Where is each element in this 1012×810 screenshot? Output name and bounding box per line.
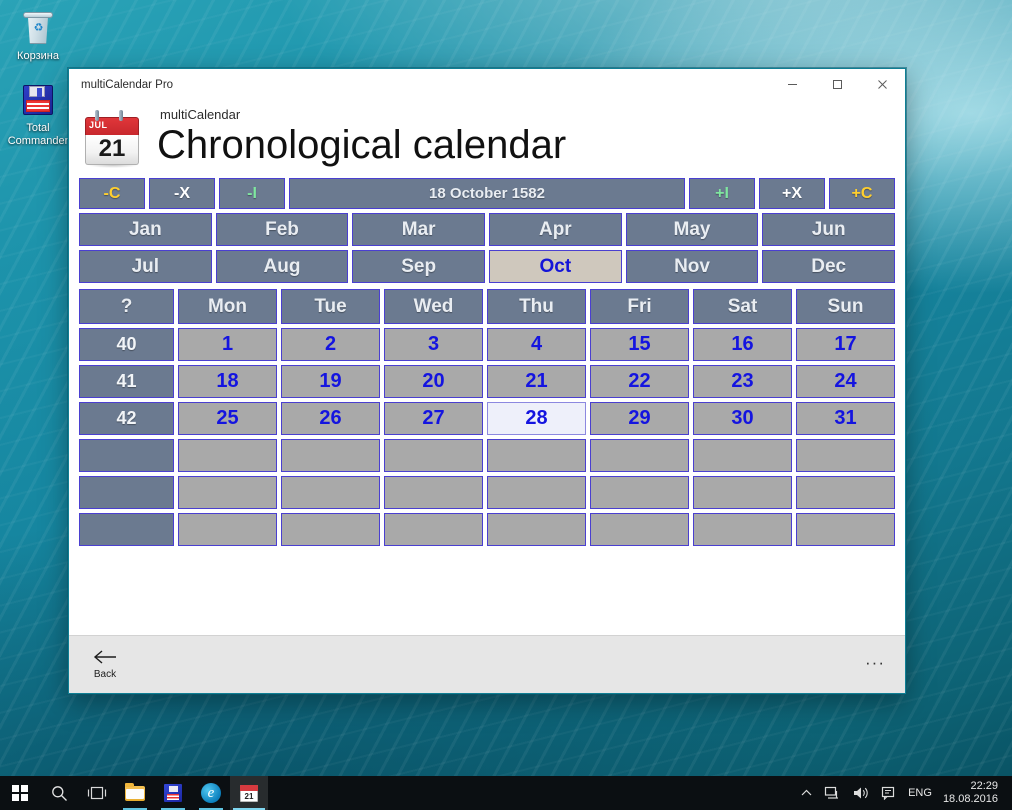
month-button-dec[interactable]: Dec: [762, 250, 895, 283]
month-button-oct[interactable]: Oct: [489, 250, 622, 283]
app-header: JUL 21 multiCalendar Chronological calen…: [69, 100, 905, 178]
floppy-disk-icon: [20, 82, 56, 118]
window-title: multiCalendar Pro: [69, 79, 770, 91]
day-cell[interactable]: 24: [796, 365, 895, 398]
taskbar-search-button[interactable]: [40, 776, 78, 810]
day-cell[interactable]: 19: [281, 365, 380, 398]
day-cell[interactable]: [384, 439, 483, 472]
day-cell[interactable]: 1: [178, 328, 277, 361]
weekday-header-sat: Sat: [693, 289, 792, 324]
total-commander-icon: [162, 782, 184, 804]
language-indicator[interactable]: ENG: [901, 787, 939, 799]
month-row-second-half: Jul Aug Sep Oct Nov Dec: [79, 250, 895, 283]
week-number: 40: [79, 328, 174, 361]
calendar-week-row: [79, 513, 895, 546]
day-cell[interactable]: [693, 513, 792, 546]
edge-icon: e: [200, 782, 222, 804]
weekday-header-fri: Fri: [590, 289, 689, 324]
desktop-icon-recycle-bin[interactable]: ♻ Корзина: [6, 10, 70, 63]
back-button[interactable]: Back: [83, 650, 127, 680]
nav-plus-decade-button[interactable]: +X: [759, 178, 825, 209]
calendar-body: -C -X -I 18 October 1582 +I +X +C Jan Fe…: [69, 178, 905, 635]
day-cell[interactable]: [590, 513, 689, 546]
nav-minus-year-button[interactable]: -I: [219, 178, 285, 209]
taskbar: e 21: [0, 776, 1012, 810]
search-icon: [51, 785, 68, 802]
day-cell[interactable]: [693, 476, 792, 509]
clock[interactable]: 22:29 18.08.2016: [939, 780, 1004, 806]
day-cell[interactable]: 17: [796, 328, 895, 361]
month-button-nov[interactable]: Nov: [626, 250, 759, 283]
close-button[interactable]: [860, 69, 905, 100]
calendar-week-row: 42 25 26 27 28 29 30 31: [79, 402, 895, 435]
window-controls: [770, 69, 905, 100]
file-explorer-icon: [124, 782, 146, 804]
day-cell[interactable]: 3: [384, 328, 483, 361]
day-cell[interactable]: [487, 439, 586, 472]
navigation-row: -C -X -I 18 October 1582 +I +X +C: [79, 178, 895, 209]
desktop-icon-label: Корзина: [6, 50, 70, 63]
day-cell[interactable]: [281, 476, 380, 509]
weekday-header-wed: Wed: [384, 289, 483, 324]
overflow-menu-button[interactable]: ···: [859, 653, 891, 677]
network-button[interactable]: [818, 776, 847, 810]
current-date-display: 18 October 1582: [289, 178, 685, 209]
back-button-label: Back: [94, 669, 116, 680]
day-cell[interactable]: [796, 439, 895, 472]
month-button-jul[interactable]: Jul: [79, 250, 212, 283]
weekday-header-tue: Tue: [281, 289, 380, 324]
week-number: [79, 513, 174, 546]
week-number: [79, 476, 174, 509]
desktop-icon-label: Total Commander: [6, 122, 70, 147]
month-button-apr[interactable]: Apr: [489, 213, 622, 246]
app-footer: Back ···: [69, 635, 905, 693]
calendar-icon-month: JUL: [89, 120, 108, 130]
week-number: 42: [79, 402, 174, 435]
day-cell[interactable]: 16: [693, 328, 792, 361]
day-cell[interactable]: 25: [178, 402, 277, 435]
page-title: Chronological calendar: [157, 120, 566, 170]
clock-time: 22:29: [943, 780, 998, 793]
day-cell[interactable]: [590, 476, 689, 509]
nav-plus-century-button[interactable]: +C: [829, 178, 895, 209]
volume-button[interactable]: [847, 776, 875, 810]
day-cell[interactable]: [178, 476, 277, 509]
weekday-header-sun: Sun: [796, 289, 895, 324]
day-cell[interactable]: [590, 439, 689, 472]
day-cell[interactable]: 2: [281, 328, 380, 361]
chevron-up-icon: [801, 789, 812, 797]
day-cell[interactable]: [384, 476, 483, 509]
nav-plus-year-button[interactable]: +I: [689, 178, 755, 209]
taskbar-total-commander-button[interactable]: [154, 776, 192, 810]
action-center-button[interactable]: [875, 776, 901, 810]
day-cell[interactable]: [487, 513, 586, 546]
volume-icon: [853, 786, 869, 800]
day-cell[interactable]: [796, 513, 895, 546]
system-tray: ENG 22:29 18.08.2016: [795, 776, 1012, 810]
day-cell[interactable]: [796, 476, 895, 509]
day-cell[interactable]: 29: [590, 402, 689, 435]
day-cell[interactable]: 20: [384, 365, 483, 398]
app-window: multiCalendar Pro JUL 21: [68, 68, 906, 694]
network-icon: [824, 786, 841, 800]
maximize-button[interactable]: [815, 69, 860, 100]
start-button[interactable]: [0, 776, 40, 810]
day-cell[interactable]: [178, 439, 277, 472]
multicalendar-icon: 21: [238, 782, 260, 804]
day-cell[interactable]: 18: [178, 365, 277, 398]
taskbar-task-view-button[interactable]: [78, 776, 116, 810]
day-cell[interactable]: 23: [693, 365, 792, 398]
day-cell[interactable]: 30: [693, 402, 792, 435]
desktop-icon-total-commander[interactable]: Total Commander: [6, 82, 70, 147]
day-cell[interactable]: 22: [590, 365, 689, 398]
calendar-week-row: [79, 476, 895, 509]
back-arrow-icon: [92, 650, 118, 668]
weekday-header-thu: Thu: [487, 289, 586, 324]
nav-minus-century-button[interactable]: -C: [79, 178, 145, 209]
weekday-header-row: ? Mon Tue Wed Thu Fri Sat Sun: [79, 289, 895, 324]
weekday-header-week: ?: [79, 289, 174, 324]
calendar-week-row: 40 1 2 3 4 15 16 17: [79, 328, 895, 361]
desktop[interactable]: ♻ Корзина Total Commander multiCalendar …: [0, 0, 1012, 810]
month-button-feb[interactable]: Feb: [216, 213, 349, 246]
month-button-jun[interactable]: Jun: [762, 213, 895, 246]
month-button-aug[interactable]: Aug: [216, 250, 349, 283]
day-cell-selected[interactable]: 28: [487, 402, 586, 435]
calendar-icon: JUL 21: [81, 110, 143, 170]
minimize-button[interactable]: [770, 69, 815, 100]
calendar-week-row: 41 18 19 20 21 22 23 24: [79, 365, 895, 398]
day-cell[interactable]: [693, 439, 792, 472]
day-cell[interactable]: 4: [487, 328, 586, 361]
recycle-bin-icon: ♻: [20, 10, 56, 46]
day-cell[interactable]: 27: [384, 402, 483, 435]
taskbar-file-explorer-button[interactable]: [116, 776, 154, 810]
day-cell[interactable]: 15: [590, 328, 689, 361]
calendar-icon-day: 21: [99, 137, 126, 161]
day-cell[interactable]: 21: [487, 365, 586, 398]
day-cell[interactable]: 26: [281, 402, 380, 435]
windows-logo-icon: [12, 785, 29, 802]
taskbar-edge-button[interactable]: e: [192, 776, 230, 810]
clock-date: 18.08.2016: [943, 793, 998, 806]
day-cell[interactable]: [384, 513, 483, 546]
day-cell[interactable]: [178, 513, 277, 546]
taskbar-multicalendar-button[interactable]: 21: [230, 776, 268, 810]
day-cell[interactable]: [281, 439, 380, 472]
day-cell[interactable]: [281, 513, 380, 546]
week-number: 41: [79, 365, 174, 398]
window-titlebar[interactable]: multiCalendar Pro: [69, 69, 905, 100]
week-number: [79, 439, 174, 472]
day-cell[interactable]: [487, 476, 586, 509]
month-button-sep[interactable]: Sep: [352, 250, 485, 283]
weekday-header-mon: Mon: [178, 289, 277, 324]
month-button-mar[interactable]: Mar: [352, 213, 485, 246]
nav-minus-decade-button[interactable]: -X: [149, 178, 215, 209]
day-cell[interactable]: 31: [796, 402, 895, 435]
month-button-may[interactable]: May: [626, 213, 759, 246]
notification-icon: [881, 786, 895, 800]
month-row-first-half: Jan Feb Mar Apr May Jun: [79, 213, 895, 246]
calendar-week-row: [79, 439, 895, 472]
month-button-jan[interactable]: Jan: [79, 213, 212, 246]
task-view-icon: [87, 785, 107, 801]
show-hidden-icons-button[interactable]: [795, 776, 818, 810]
